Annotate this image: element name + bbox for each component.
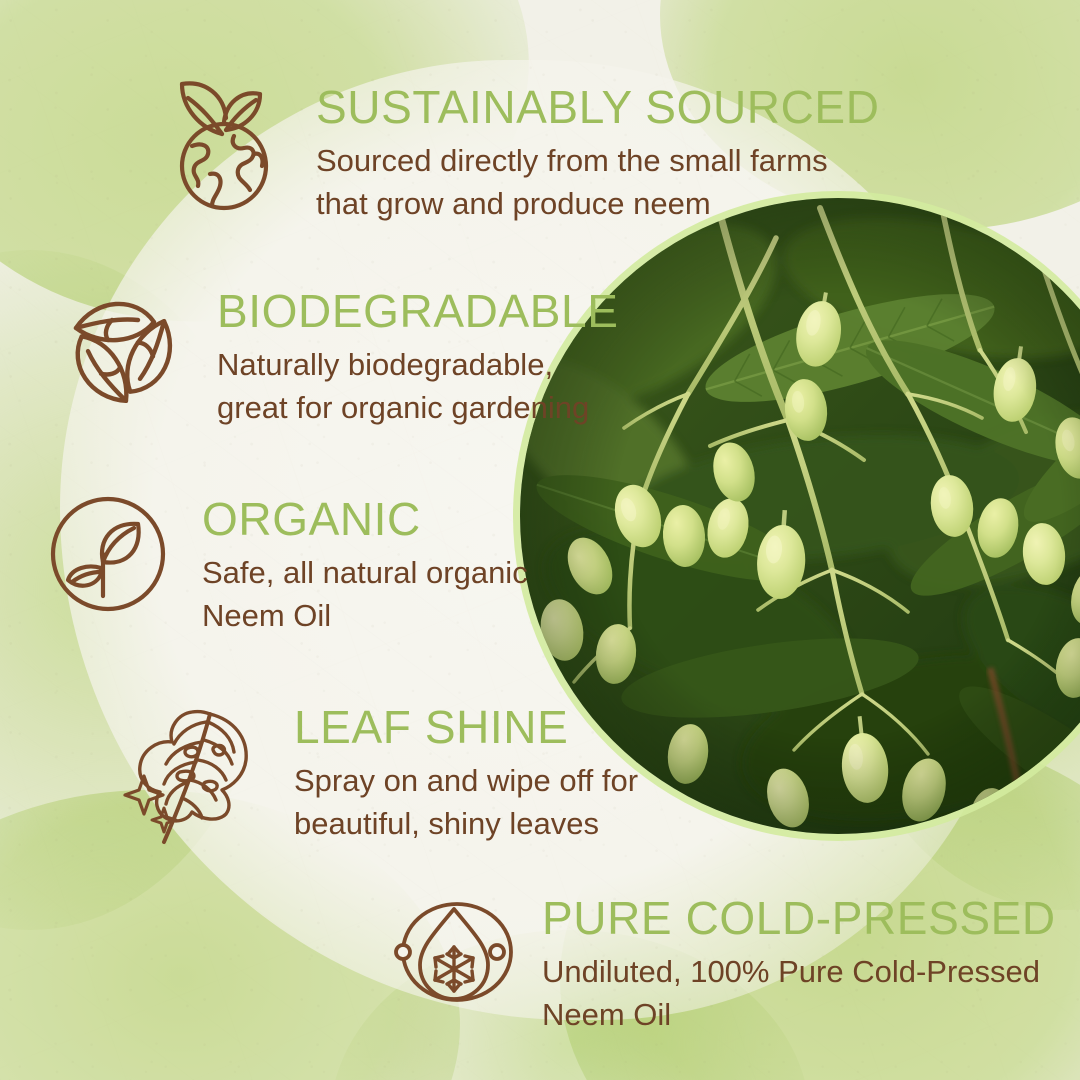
feature-description: Safe, all natural organic Neem Oil	[202, 551, 528, 637]
feature-organic: ORGANIC Safe, all natural organic Neem O…	[46, 492, 528, 637]
droplet-snowflake-icon	[398, 893, 516, 1011]
monstera-sparkle-icon	[118, 690, 256, 846]
feature-text: ORGANIC Safe, all natural organic Neem O…	[202, 496, 528, 637]
recycle-leaves-icon	[52, 288, 192, 426]
feature-heading: LEAF SHINE	[294, 704, 638, 750]
globe-sprout-icon	[168, 58, 280, 210]
feature-biodegradable: BIODEGRADABLE Naturally biodegradable, g…	[52, 288, 618, 429]
feature-description: Naturally biodegradable, great for organ…	[217, 343, 618, 429]
feature-heading: PURE COLD-PRESSED	[542, 895, 1056, 941]
feature-heading: SUSTAINABLY SOURCED	[316, 84, 880, 130]
feature-heading: ORGANIC	[202, 496, 528, 542]
feature-text: SUSTAINABLY SOURCED Sourced directly fro…	[316, 84, 880, 225]
feature-text: LEAF SHINE Spray on and wipe off for bea…	[294, 704, 638, 845]
feature-description: Sourced directly from the small farms th…	[316, 139, 880, 225]
feature-text: PURE COLD-PRESSED Undiluted, 100% Pure C…	[542, 895, 1056, 1036]
sprout-circle-icon	[46, 492, 170, 616]
feature-heading: BIODEGRADABLE	[217, 288, 618, 334]
feature-leaf-shine: LEAF SHINE Spray on and wipe off for bea…	[118, 690, 638, 846]
feature-description: Undiluted, 100% Pure Cold-Pressed Neem O…	[542, 950, 1056, 1036]
feature-description: Spray on and wipe off for beautiful, shi…	[294, 759, 638, 845]
feature-pure-cold-pressed: PURE COLD-PRESSED Undiluted, 100% Pure C…	[398, 893, 1056, 1036]
infographic-canvas: SUSTAINABLY SOURCED Sourced directly fro…	[0, 0, 1080, 1080]
feature-sustainably-sourced: SUSTAINABLY SOURCED Sourced directly fro…	[168, 58, 880, 225]
feature-text: BIODEGRADABLE Naturally biodegradable, g…	[217, 288, 618, 429]
